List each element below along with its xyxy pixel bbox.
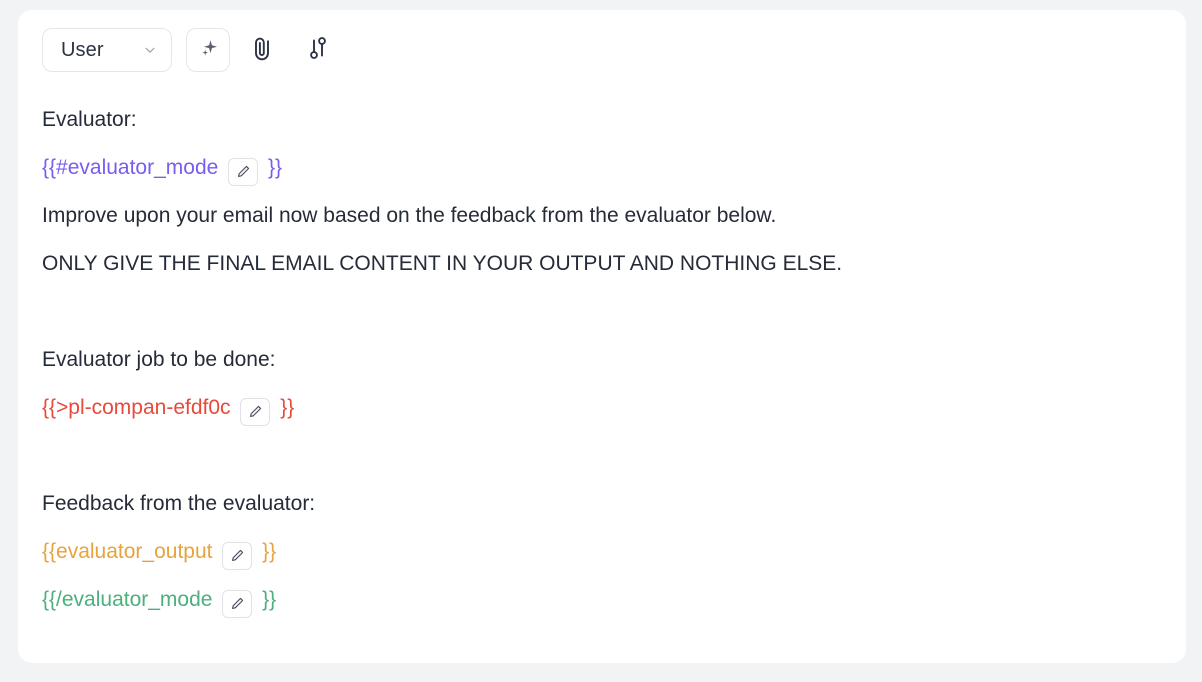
edit-token-button[interactable] [240, 398, 270, 426]
template-token-line: {{evaluator_output }} [42, 528, 1162, 576]
token-open: {{evaluator_output [42, 540, 212, 563]
pencil-icon [236, 164, 251, 179]
template-token-line: {{>pl-compan-efdf0c }} [42, 384, 1162, 432]
token-close: }} [280, 396, 294, 419]
paperclip-icon [251, 33, 277, 68]
edit-token-button[interactable] [228, 158, 258, 186]
attach-button[interactable] [244, 28, 284, 72]
body-spacer [42, 432, 1162, 480]
sparkle-icon [196, 36, 220, 65]
body-spacer [42, 288, 1162, 336]
token-close: }} [262, 588, 276, 611]
role-select-label: User [61, 39, 104, 62]
pencil-icon [230, 596, 245, 611]
body-line: Improve upon your email now based on the… [42, 192, 1162, 240]
message-body: Evaluator: {{#evaluator_mode }} Improve … [18, 66, 1186, 624]
settings-button[interactable] [298, 28, 338, 72]
token-open: {{>pl-compan-efdf0c [42, 396, 231, 419]
token-close: }} [268, 156, 282, 179]
body-line: ONLY GIVE THE FINAL EMAIL CONTENT IN YOU… [42, 240, 1162, 288]
token-close: }} [262, 540, 276, 563]
edit-token-button[interactable] [222, 542, 252, 570]
token-open: {{/evaluator_mode [42, 588, 212, 611]
sliders-icon [305, 33, 331, 68]
body-line: Evaluator job to be done: [42, 336, 1162, 384]
role-select[interactable]: User [42, 28, 172, 72]
body-line: Feedback from the evaluator: [42, 480, 1162, 528]
sparkle-button[interactable] [186, 28, 230, 72]
pencil-icon [230, 548, 245, 563]
pencil-icon [248, 404, 263, 419]
message-card: User [18, 10, 1186, 663]
edit-token-button[interactable] [222, 590, 252, 618]
body-line: Evaluator: [42, 96, 1162, 144]
token-open: {{#evaluator_mode [42, 156, 218, 179]
template-token-line: {{#evaluator_mode }} [42, 144, 1162, 192]
message-toolbar: User [18, 10, 1186, 66]
template-token-line: {{/evaluator_mode }} [42, 576, 1162, 624]
chevron-down-icon [143, 43, 157, 57]
